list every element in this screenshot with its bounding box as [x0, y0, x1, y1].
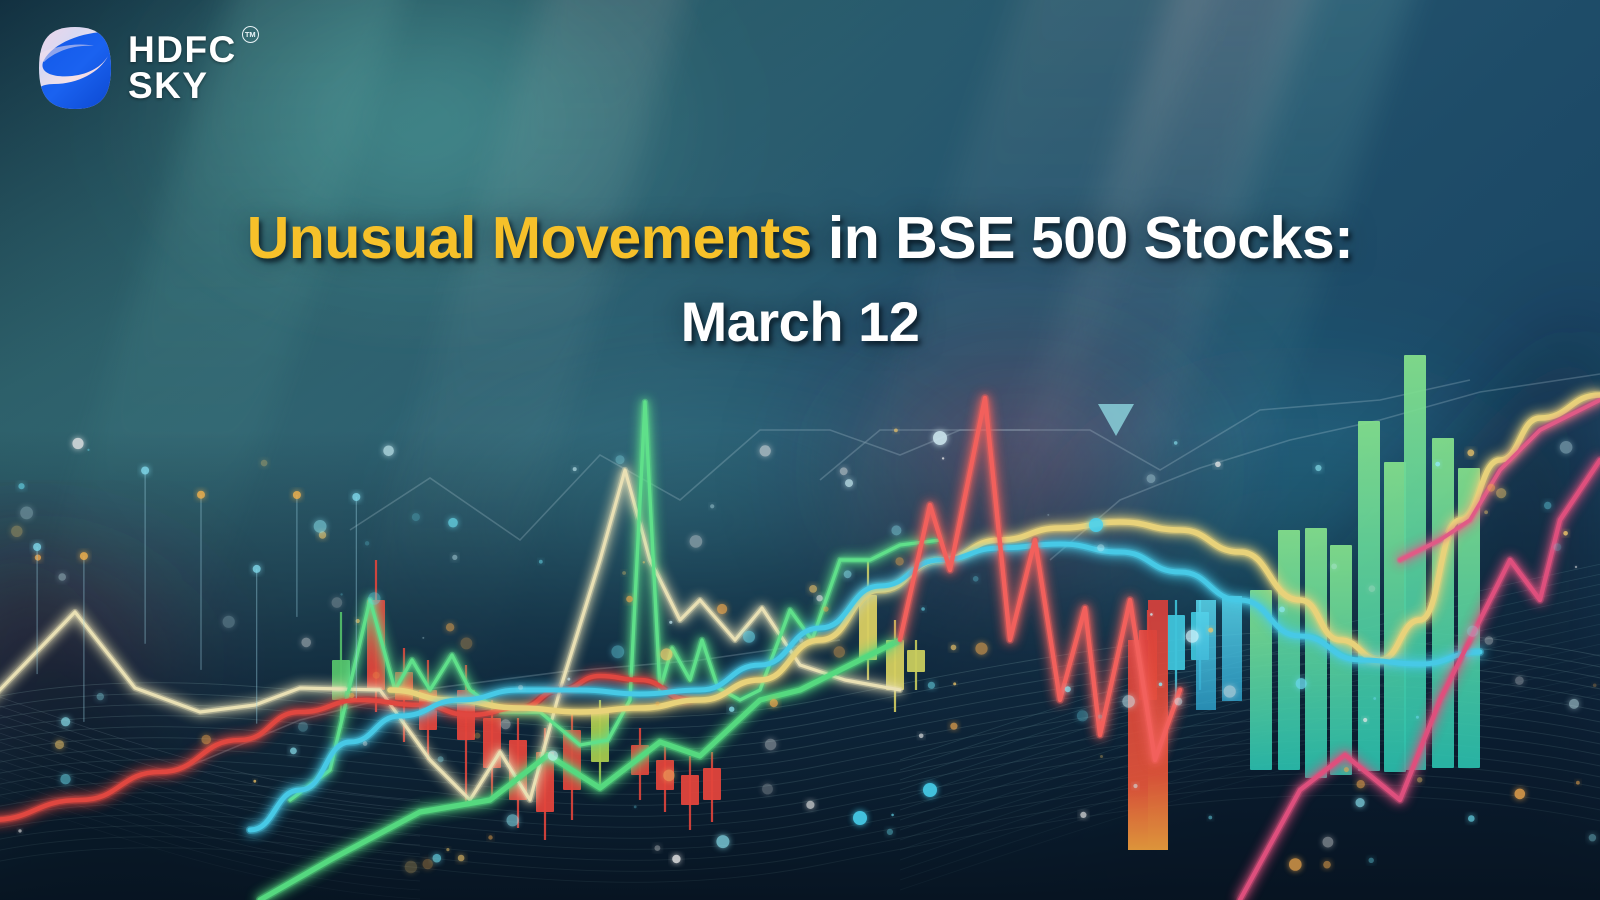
- banner-canvas: HDFC SKY TM Unusual Movements in BSE 500…: [0, 0, 1600, 900]
- brand-logo[interactable]: HDFC SKY TM: [38, 26, 237, 110]
- title-line-2: March 12: [120, 280, 1480, 364]
- logo-text-hdfc: HDFC: [128, 32, 237, 68]
- hdfc-sky-swoosh-icon: [38, 26, 112, 110]
- title-line-1: Unusual Movements in BSE 500 Stocks:: [120, 196, 1480, 280]
- logo-text-sky: SKY: [128, 68, 237, 104]
- trademark-icon: TM: [242, 26, 259, 43]
- market-chart-artwork: [0, 0, 1600, 900]
- page-title: Unusual Movements in BSE 500 Stocks: Mar…: [0, 196, 1600, 364]
- volume-bars: [1250, 355, 1480, 778]
- title-rest: in BSE 500 Stocks:: [812, 205, 1353, 271]
- title-highlight: Unusual Movements: [247, 205, 812, 271]
